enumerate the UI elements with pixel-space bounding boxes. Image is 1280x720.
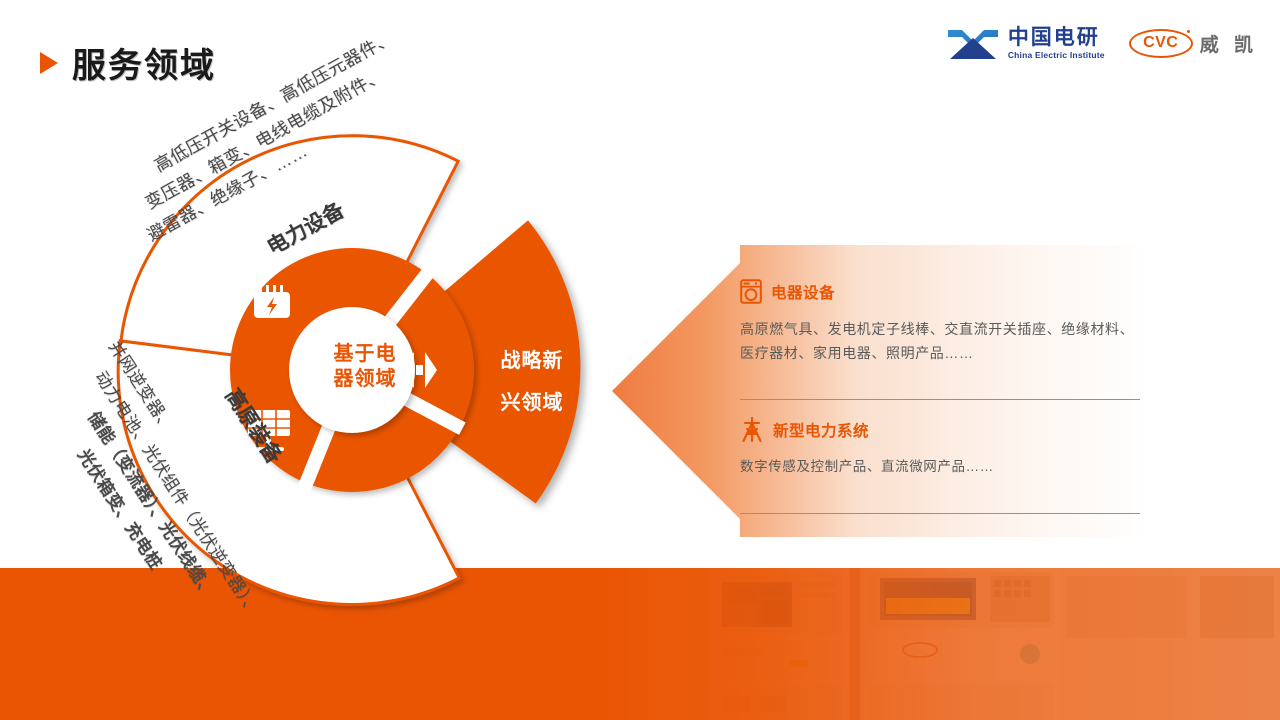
logo-group: 中国电研 China Electric Institute CVC 威 凯 [946, 26, 1258, 60]
service-domain-donut: 高低压开关设备、高低压元器件、 变压器、箱变、电线电缆及附件、 避雷器、绝缘子、… [62, 120, 662, 620]
cvc-badge: CVC [1129, 29, 1193, 58]
washing-machine-icon [740, 279, 762, 304]
strategic-line2: 兴领域 [472, 382, 592, 424]
triangle-right-icon [40, 52, 58, 74]
callout-divider [740, 513, 1140, 514]
slide-canvas: 服务领域 中国电研 China Electric Institute CVC [0, 0, 1280, 720]
detail-callout: 电器设备 高原燃气具、发电机定子线棒、交直流开关插座、绝缘材料、医疗器材、家用电… [612, 245, 1152, 537]
segment-strategic-emerging-label: 战略新 兴领域 [472, 340, 592, 424]
donut-center-label: 基于电 器领域 [310, 342, 420, 392]
cvc-logo: CVC 威 凯 [1129, 29, 1258, 58]
china-electric-institute-logo: 中国电研 China Electric Institute [946, 26, 1105, 60]
donut-center-line1: 基于电 [310, 342, 420, 367]
callout-section-title: 新型电力系统 [773, 419, 869, 441]
mountain-icon [946, 26, 1000, 60]
callout-section-power-system: 新型电力系统 数字传感及控制产品、直流微网产品…… [740, 417, 1140, 478]
cvc-logo-cn: 威 凯 [1200, 30, 1258, 57]
cei-logo-cn: 中国电研 [1008, 27, 1105, 48]
donut-center-line2: 器领域 [310, 367, 420, 392]
callout-section-title: 电器设备 [771, 281, 835, 303]
page-title: 服务领域 [40, 38, 216, 87]
cei-logo-en: China Electric Institute [1008, 51, 1105, 60]
callout-content: 电器设备 高原燃气具、发电机定子线棒、交直流开关插座、绝缘材料、医疗器材、家用电… [740, 245, 1140, 537]
strategic-line1: 战略新 [472, 340, 592, 382]
callout-section-header: 新型电力系统 [740, 417, 1140, 442]
callout-section-body: 数字传感及控制产品、直流微网产品…… [740, 455, 1140, 478]
callout-divider [740, 399, 1140, 400]
page-title-text: 服务领域 [72, 38, 216, 87]
cvc-badge-text: CVC [1143, 34, 1178, 52]
callout-section-appliance: 电器设备 高原燃气具、发电机定子线棒、交直流开关插座、绝缘材料、医疗器材、家用电… [740, 279, 1140, 365]
callout-section-body: 高原燃气具、发电机定子线棒、交直流开关插座、绝缘材料、医疗器材、家用电器、照明产… [740, 317, 1140, 365]
callout-section-header: 电器设备 [740, 279, 1140, 304]
power-tower-icon [740, 417, 764, 442]
